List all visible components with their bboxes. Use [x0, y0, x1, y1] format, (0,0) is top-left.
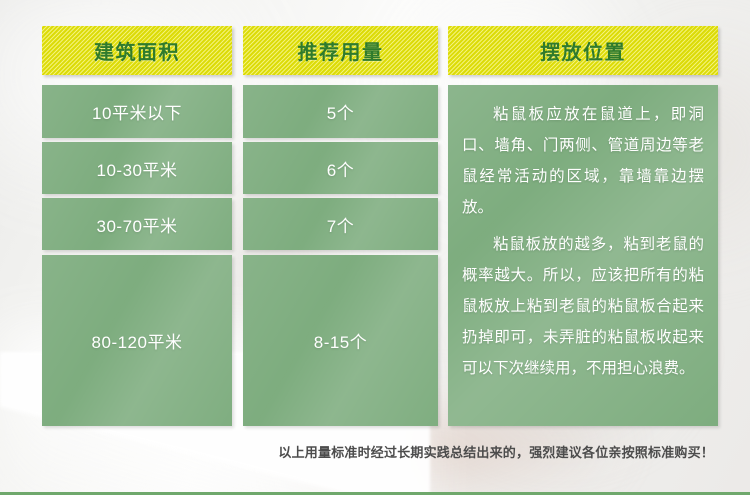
table-row: 10-30平米: [42, 142, 232, 194]
dosage-table: 建筑面积 10平米以下 10-30平米 30-70平米 80-120平米 推荐用…: [42, 26, 718, 426]
column-placement-location: 摆放位置 粘鼠板应放在鼠道上，即洞口、墙角、门两侧、管道周边等老鼠经常活动的区域…: [448, 26, 718, 426]
area-value-3: 30-70平米: [97, 212, 178, 237]
header-building-area: 建筑面积: [42, 26, 232, 75]
area-value-4: 80-120平米: [92, 328, 183, 353]
quantity-value-1: 5个: [327, 99, 354, 124]
table-row: 80-120平米: [42, 255, 232, 426]
quantity-value-2: 6个: [327, 156, 354, 181]
area-value-1: 10平米以下: [92, 99, 182, 124]
table-row: 5个: [243, 85, 438, 138]
header-placement-location: 摆放位置: [448, 26, 718, 75]
table-row: 6个: [243, 142, 438, 194]
header-recommended-quantity: 推荐用量: [243, 26, 438, 75]
header-building-area-label: 建筑面积: [94, 36, 180, 65]
header-placement-location-label: 摆放位置: [540, 36, 626, 65]
placement-paragraph-1: 粘鼠板应放在鼠道上，即洞口、墙角、门两侧、管道周边等老鼠经常活动的区域，靠墙靠边…: [462, 99, 704, 223]
table-row: 10平米以下: [42, 85, 232, 138]
column-recommended-quantity: 推荐用量 5个 6个 7个 8-15个: [243, 26, 438, 426]
infographic-page: 建筑面积 10平米以下 10-30平米 30-70平米 80-120平米 推荐用…: [0, 0, 750, 495]
table-row: 7个: [243, 198, 438, 250]
area-value-2: 10-30平米: [97, 156, 178, 181]
quantity-value-4: 8-15个: [314, 328, 368, 353]
placement-paragraph-2: 粘鼠板放的越多，粘到老鼠的概率越大。所以，应该把所有的粘鼠板放上粘到老鼠的粘鼠板…: [462, 229, 704, 384]
placement-description-panel: 粘鼠板应放在鼠道上，即洞口、墙角、门两侧、管道周边等老鼠经常活动的区域，靠墙靠边…: [448, 85, 718, 426]
table-row: 30-70平米: [42, 198, 232, 250]
footer-note: 以上用量标准时经过长期实践总结出来的，强烈建议各位亲按照标准购买！: [0, 442, 714, 461]
header-recommended-quantity-label: 推荐用量: [298, 36, 384, 65]
column-building-area: 建筑面积 10平米以下 10-30平米 30-70平米 80-120平米: [42, 26, 232, 426]
table-row: 8-15个: [243, 255, 438, 426]
quantity-value-3: 7个: [327, 212, 354, 237]
